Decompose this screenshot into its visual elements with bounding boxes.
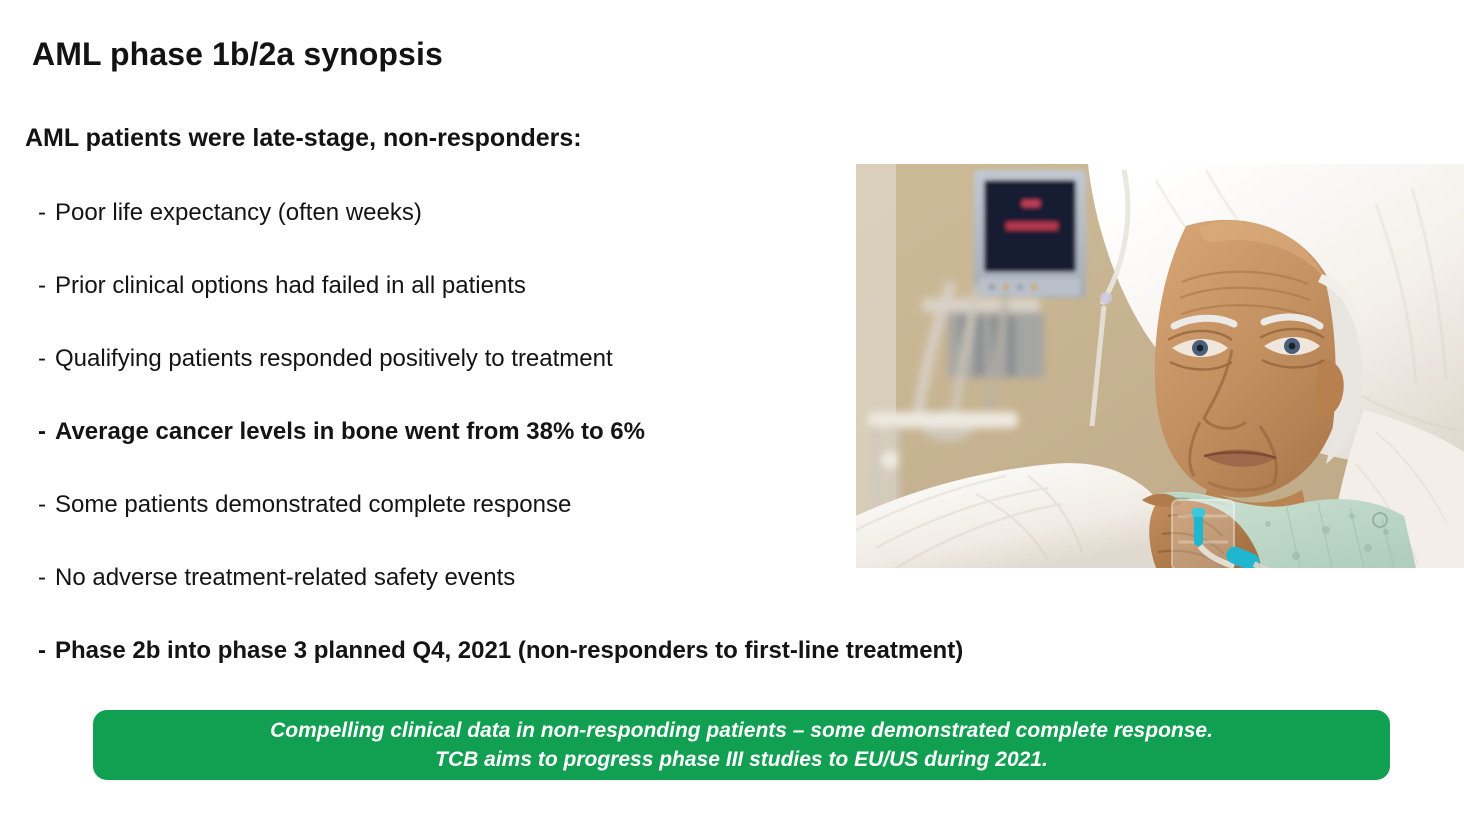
list-item-label: No adverse treatment-related safety even… [55,563,515,593]
list-item-label: Some patients demonstrated complete resp… [55,490,571,520]
summary-banner: Compelling clinical data in non-respondi… [93,710,1390,780]
list-item-label: Average cancer levels in bone went from … [55,417,645,447]
bullet-dash-icon: - [38,344,46,374]
list-item-label: Phase 2b into phase 3 planned Q4, 2021 (… [55,636,963,666]
bullet-dash-icon: - [38,563,46,593]
hospital-patient-photo [856,164,1464,568]
bullet-dash-icon: - [38,271,46,301]
list-item: - No adverse treatment-related safety ev… [38,563,1258,636]
page-title: AML phase 1b/2a synopsis [32,36,443,73]
bullet-dash-icon: - [38,198,46,228]
list-item-label: Prior clinical options had failed in all… [55,271,526,301]
summary-banner-line-1: Compelling clinical data in non-respondi… [270,716,1213,745]
list-item: - Phase 2b into phase 3 planned Q4, 2021… [38,636,1258,709]
summary-banner-line-2: TCB aims to progress phase III studies t… [435,745,1048,774]
list-item-label: Qualifying patients responded positively… [55,344,613,374]
list-item-label: Poor life expectancy (often weeks) [55,198,422,228]
bullet-dash-icon: - [38,417,46,447]
bullet-dash-icon: - [38,490,46,520]
bullet-dash-icon: - [38,636,46,666]
patient-photo-illustration [856,164,1464,568]
section-subtitle: AML patients were late-stage, non-respon… [25,124,582,153]
